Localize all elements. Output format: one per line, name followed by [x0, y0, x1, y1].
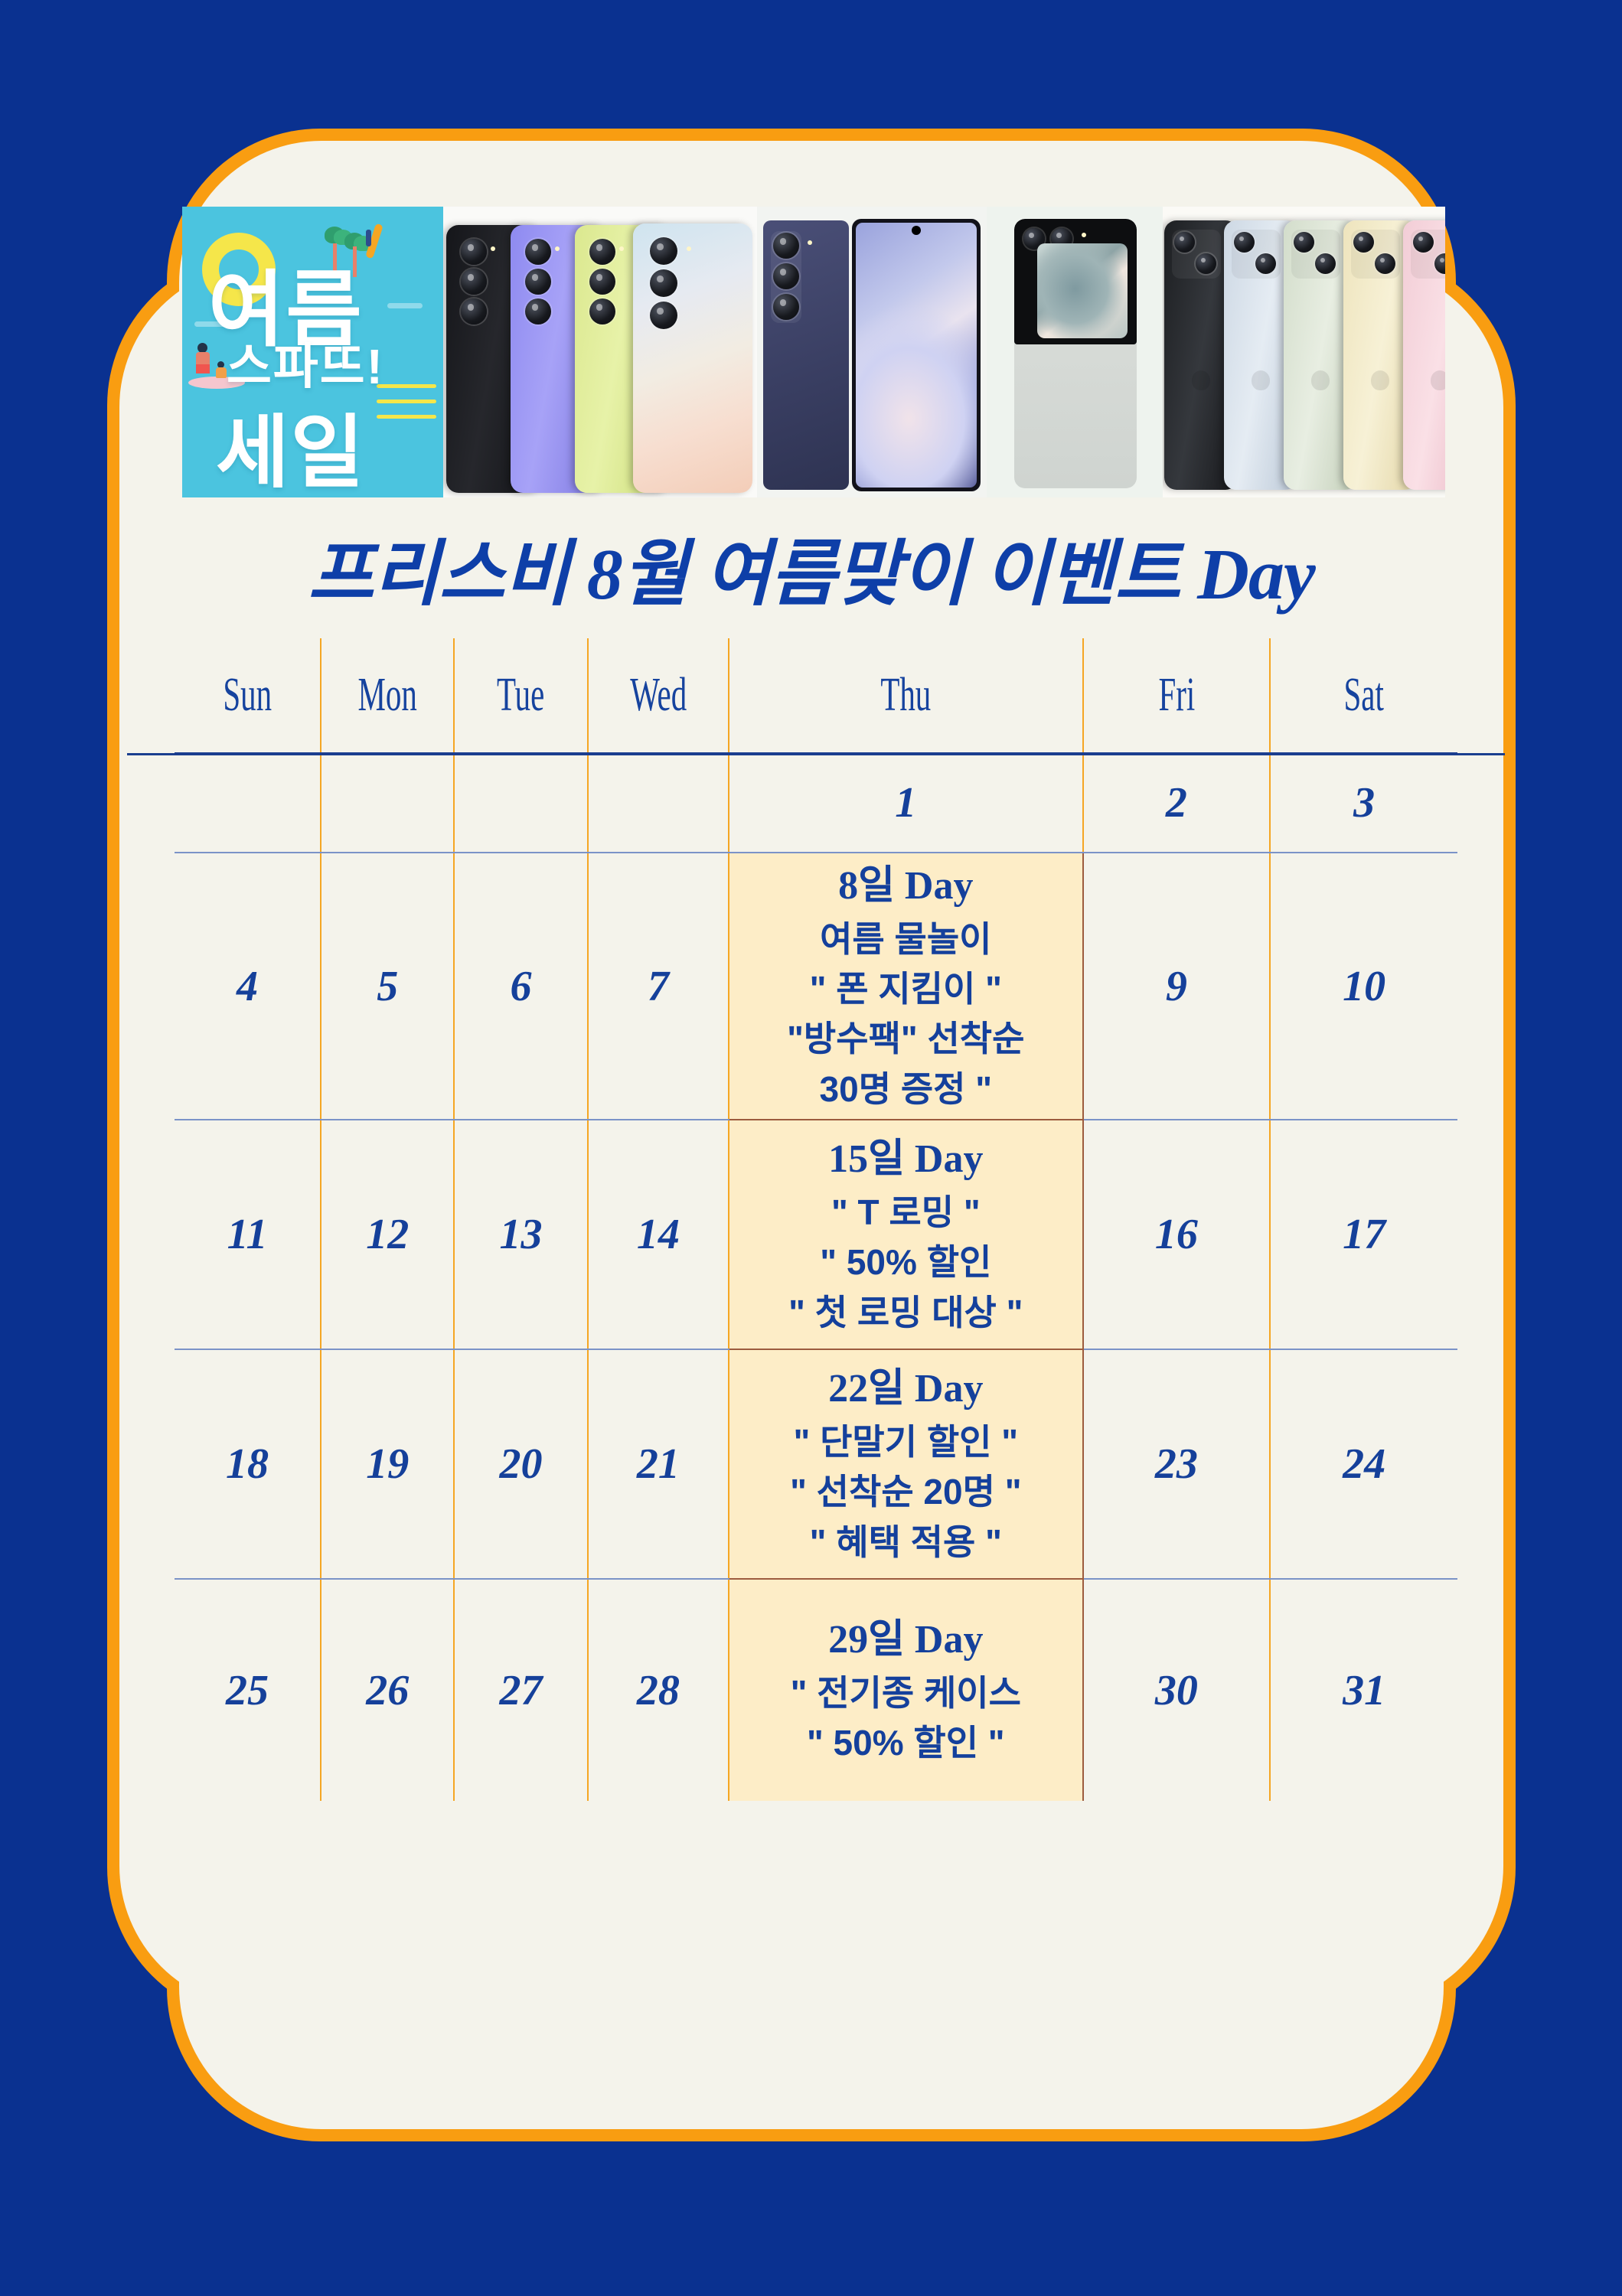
weekday-mon: Mon: [344, 638, 432, 753]
flip-cover-screen: [1037, 243, 1128, 338]
day-cell-17[interactable]: 17: [1270, 1120, 1457, 1349]
event-line: " 혜택 적용 ": [737, 1518, 1075, 1567]
iphone-15-lineup: [1163, 207, 1445, 497]
cloud-bar: [387, 303, 423, 308]
weekday-wed: Wed: [612, 638, 705, 753]
event-line: " 폰 지킴이 ": [737, 964, 1075, 1014]
calendar-week-row: 1 2 3: [175, 753, 1457, 853]
calendar-week-row: 18 19 20 21 22일 Day " 단말기 할인 " " 선착순 20명…: [175, 1349, 1457, 1579]
galaxy-z-fold-phone: [757, 207, 987, 497]
weekday-sun: Sun: [199, 638, 295, 753]
banner-line-3: 세일: [216, 387, 365, 497]
day-cell-16[interactable]: 16: [1083, 1120, 1271, 1349]
event-cell-29[interactable]: 29일 Day " 전기종 케이스 " 50% 할인 ": [729, 1579, 1083, 1801]
day-cell-9[interactable]: 9: [1083, 853, 1271, 1120]
day-cell-6[interactable]: 6: [454, 853, 587, 1120]
day-cell-18[interactable]: 18: [175, 1349, 321, 1579]
day-cell[interactable]: [588, 753, 729, 853]
header-rule: [127, 753, 1505, 755]
day-cell-19[interactable]: 19: [321, 1349, 454, 1579]
day-cell-25[interactable]: 25: [175, 1579, 321, 1801]
event-line: 여름 물놀이: [737, 915, 1075, 964]
day-cell-14[interactable]: 14: [588, 1120, 729, 1349]
event-line: " 선착순 20명 ": [737, 1467, 1075, 1517]
weekday-sat: Sat: [1302, 638, 1426, 753]
poster-content: 여름 스파뜨! 세일: [119, 141, 1503, 2129]
event-cell-8[interactable]: 8일 Day 여름 물놀이 " 폰 지킴이 " "방수팩" 선착순 30명 증정…: [729, 853, 1083, 1120]
day-cell-28[interactable]: 28: [588, 1579, 729, 1801]
day-cell-13[interactable]: 13: [454, 1120, 587, 1349]
day-cell-5[interactable]: 5: [321, 853, 454, 1120]
day-cell-10[interactable]: 10: [1270, 853, 1457, 1120]
event-calendar: Sun Mon Tue Wed Thu Fri Sat: [175, 638, 1457, 1801]
event-cell-22[interactable]: 22일 Day " 단말기 할인 " " 선착순 20명 " " 혜택 적용 ": [729, 1349, 1083, 1579]
weekday-fri: Fri: [1115, 638, 1238, 753]
product-image-strip: 여름 스파뜨! 세일: [182, 207, 1445, 497]
day-cell[interactable]: [175, 753, 321, 853]
day-cell-26[interactable]: 26: [321, 1579, 454, 1801]
day-cell-31[interactable]: 31: [1270, 1579, 1457, 1801]
day-cell-2[interactable]: 2: [1083, 753, 1271, 853]
galaxy-z-flip-phone: [987, 207, 1163, 497]
day-cell-27[interactable]: 27: [454, 1579, 587, 1801]
day-cell-12[interactable]: 12: [321, 1120, 454, 1349]
weekday-thu: Thu: [789, 638, 1023, 753]
day-cell-11[interactable]: 11: [175, 1120, 321, 1349]
calendar-week-row: 25 26 27 28 29일 Day " 전기종 케이스 " 50% 할인 "…: [175, 1579, 1457, 1801]
calendar-week-row: 4 5 6 7 8일 Day 여름 물놀이 " 폰 지킴이 " "방수팩" 선착…: [175, 853, 1457, 1120]
event-cell-15[interactable]: 15일 Day " T 로밍 " " 50% 할인 " 첫 로밍 대상 ": [729, 1120, 1083, 1349]
day-cell-24[interactable]: 24: [1270, 1349, 1457, 1579]
day-cell-1[interactable]: 1: [729, 753, 1083, 853]
fold-back-panel: [763, 220, 849, 490]
day-cell-30[interactable]: 30: [1083, 1579, 1271, 1801]
day-cell-21[interactable]: 21: [588, 1349, 729, 1579]
weekday-header-row: Sun Mon Tue Wed Thu Fri Sat: [175, 638, 1457, 753]
event-line: " 전기종 케이스: [737, 1668, 1075, 1718]
event-line: " 50% 할인 ": [737, 1718, 1075, 1768]
event-line: " T 로밍 ": [737, 1188, 1075, 1238]
fold-main-screen: [852, 219, 981, 491]
iphone-pink: [1403, 220, 1445, 490]
event-line: " 50% 할인: [737, 1238, 1075, 1287]
day-cell-7[interactable]: 7: [588, 853, 729, 1120]
day-cell-3[interactable]: 3: [1270, 753, 1457, 853]
day-cell-4[interactable]: 4: [175, 853, 321, 1120]
event-line: " 단말기 할인 ": [737, 1417, 1075, 1467]
event-line: 30명 증정 ": [737, 1065, 1075, 1114]
day-cell-23[interactable]: 23: [1083, 1349, 1271, 1579]
phone-silver-iridescent: [633, 223, 752, 493]
weekday-tue: Tue: [477, 638, 565, 753]
event-heading: 15일 Day: [737, 1131, 1075, 1188]
event-heading: 8일 Day: [737, 858, 1075, 915]
day-cell-20[interactable]: 20: [454, 1349, 587, 1579]
promotional-calendar-poster: 여름 스파뜨! 세일: [0, 0, 1622, 2296]
event-line: "방수팩" 선착순: [737, 1014, 1075, 1064]
day-cell[interactable]: [454, 753, 587, 853]
event-heading: 29일 Day: [737, 1612, 1075, 1668]
event-line: " 첫 로밍 대상 ": [737, 1288, 1075, 1338]
day-cell[interactable]: [321, 753, 454, 853]
event-heading: 22일 Day: [737, 1361, 1075, 1417]
summer-sale-banner: 여름 스파뜨! 세일: [182, 207, 443, 497]
page-title: 프리스비 8월 여름맞이 이벤트 Day: [119, 516, 1503, 620]
galaxy-a-series-phones: [443, 207, 757, 497]
calendar-week-row: 11 12 13 14 15일 Day " T 로밍 " " 50% 할인 " …: [175, 1120, 1457, 1349]
